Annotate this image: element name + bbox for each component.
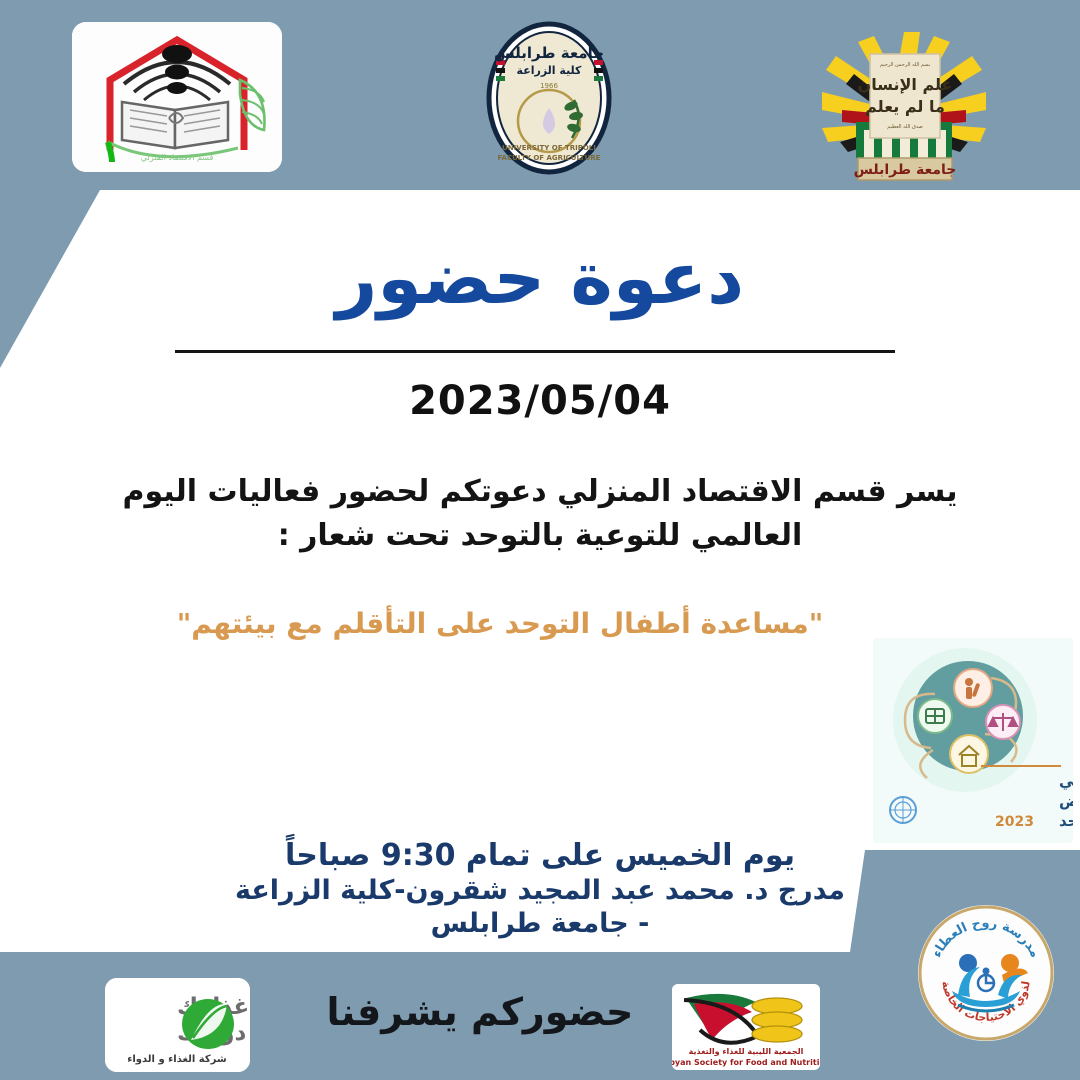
- university-of-tripoli-emblem: بسم الله الرحمن الرحيم علم الإنسان ما لم…: [812, 18, 997, 183]
- world-autism-awareness-day-2023-logo: اليوم العالمي للتوعية بمرض التوحد 2023: [873, 638, 1073, 843]
- invitation-body-line-2: العالمي للتوعية بالتوحد تحت شعار :: [85, 514, 995, 558]
- lsfn-english: Libyan Society for Food and Nutrition: [672, 1058, 820, 1067]
- closing-note: حضوركم يشرفنا: [300, 990, 660, 1034]
- univ-banner-text: جامعة طرابلس: [854, 162, 957, 178]
- title-divider: [175, 350, 895, 353]
- event-date: 2023/05/04: [0, 378, 1080, 424]
- event-time: يوم الخميس على تمام 9:30 صباحاً: [150, 838, 930, 875]
- univ-verse-line1: علم الإنسان: [858, 75, 953, 94]
- invitation-body: يسر قسم الاقتصاد المنزلي دعوتكم لحضور فع…: [85, 470, 995, 557]
- autism-logo-line2: للتوعية بمرض: [1059, 792, 1073, 810]
- lsfn-arabic: الجمعية الليبية للغذاء والتغذية: [689, 1047, 804, 1056]
- agri-seal-arabic-top: جامعة طرابلس: [494, 44, 604, 62]
- libyan-society-for-food-and-nutrition-logo: الجمعية الليبية للغذاء والتغذية Libyan S…: [672, 984, 820, 1070]
- page-title: دعوة حضور: [0, 236, 1080, 320]
- agri-seal-english-line2: FACULTY OF AGRICULTURE: [498, 154, 601, 162]
- agri-seal-english-line1: UNIVERSITY OF TRIPOLI: [502, 144, 596, 152]
- food-drug-caption: شركة الغذاء و الدواء: [127, 1054, 227, 1065]
- home-economics-department-logo: قسم الاقتصاد المنزلي: [72, 22, 282, 172]
- event-slogan: "مساعدة أطفال التوحد على التأقلم مع بيئت…: [120, 604, 880, 643]
- autism-logo-year: 2023: [995, 814, 1034, 830]
- food-and-drug-company-logo: غذاؤك دواؤك شركة الغذاء و الدواء: [105, 978, 250, 1072]
- top-logo-row: قسم الاقتصاد المنزلي جامعة طرابلس: [0, 0, 1080, 190]
- invitation-body-line-1: يسر قسم الاقتصاد المنزلي دعوتكم لحضور فع…: [85, 470, 995, 514]
- univ-verse-line2: ما لم يعلم: [865, 97, 945, 116]
- event-location: مدرج د. محمد عبد المجيد شقرون-كلية الزرا…: [150, 875, 930, 908]
- event-university: - جامعة طرابلس: [150, 908, 930, 941]
- spirit-of-giving-school-logo: مدرسة روح العطاء لذوي الاحتياجات الخاصة: [918, 905, 1054, 1041]
- invitation-poster: قسم الاقتصاد المنزلي جامعة طرابلس: [0, 0, 1080, 1080]
- university-of-tripoli-faculty-of-agriculture-seal: جامعة طرابلس كلية الزراعة 1966 UNIVERSIT…: [472, 18, 627, 178]
- univ-verse-small-bottom: صدق الله العظيم: [887, 124, 922, 130]
- autism-logo-line3: التوحد: [1059, 812, 1073, 830]
- home-economics-caption: قسم الاقتصاد المنزلي: [141, 153, 214, 162]
- event-venue-block: يوم الخميس على تمام 9:30 صباحاً مدرج د. …: [150, 838, 930, 940]
- autism-logo-line1: اليوم العالمي: [1059, 772, 1073, 790]
- agri-seal-arabic-sub: كلية الزراعة: [517, 64, 583, 77]
- univ-verse-small-top: بسم الله الرحمن الرحيم: [880, 62, 930, 68]
